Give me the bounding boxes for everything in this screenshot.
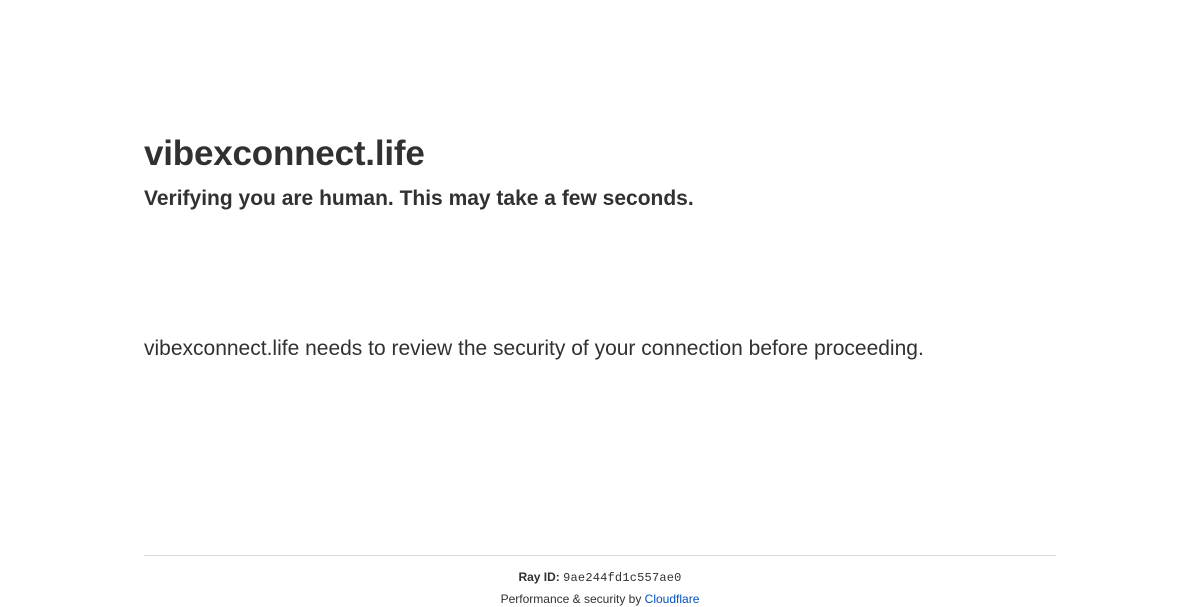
challenge-main-content: vibexconnect.life Verifying you are huma… <box>144 0 1056 367</box>
cloudflare-link[interactable]: Cloudflare <box>645 592 700 606</box>
ray-id-label: Ray ID: <box>518 570 559 584</box>
cloudflare-challenge-page: vibexconnect.life Verifying you are huma… <box>0 0 1200 600</box>
challenge-description: vibexconnect.life needs to review the se… <box>144 309 944 367</box>
turnstile-challenge-widget[interactable] <box>144 235 446 309</box>
ray-id-value: 9ae244fd1c557ae0 <box>563 571 681 585</box>
attribution-prefix-text: Performance & security by <box>501 592 645 606</box>
cloudflare-attribution: Performance & security by Cloudflare <box>144 586 1056 607</box>
page-title: vibexconnect.life <box>144 0 1056 175</box>
page-footer: Ray ID: 9ae244fd1c557ae0 Performance & s… <box>144 555 1056 607</box>
ray-id-row: Ray ID: 9ae244fd1c557ae0 <box>144 556 1056 586</box>
verification-status-text: Verifying you are human. This may take a… <box>144 175 1056 213</box>
